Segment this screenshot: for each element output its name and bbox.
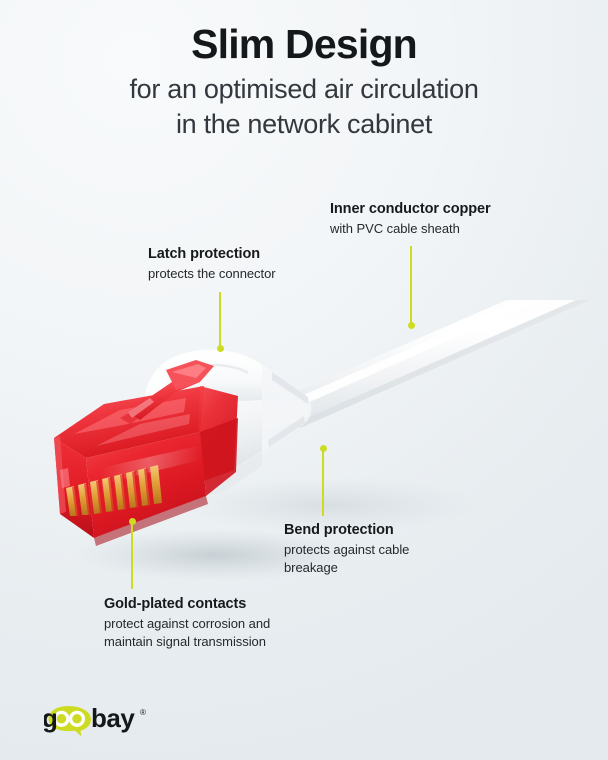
callout-gold-plated-contacts: Gold-plated contacts protect against cor… [104,595,270,651]
callout-sub-line: protect against corrosion and [104,615,270,633]
callout-subtitle: protects the connector [148,265,276,283]
infographic-poster: Slim Design for an optimised air circula… [0,0,608,760]
callout-bend-protection: Bend protection protects against cable b… [284,521,409,577]
logo-text-before: g [44,703,58,733]
callout-inner-conductor-copper: Inner conductor copper with PVC cable sh… [330,200,491,238]
callout-title: Bend protection [284,521,409,541]
leader-line-inner-conductor [410,246,412,326]
subtitle-line-1: for an optimised air circulation [0,72,608,107]
callout-sub-line: maintain signal transmission [104,633,270,651]
leader-line-gold-plated-contacts [131,521,133,589]
page-title: Slim Design [0,22,608,66]
goobay-logo: g bay ® [44,703,156,737]
subtitle-line-2: in the network cabinet [0,107,608,142]
page-subtitle: for an optimised air circulation in the … [0,72,608,141]
callout-subtitle: protects against cable breakage [284,541,409,578]
callout-sub-line: protects against cable [284,541,409,559]
callout-sub-line: protects the connector [148,265,276,283]
callout-title: Inner conductor copper [330,200,491,220]
callout-title: Gold-plated contacts [104,595,270,615]
leader-line-latch-protection [219,292,221,349]
header: Slim Design for an optimised air circula… [0,22,608,141]
leader-line-bend-protection [322,448,324,516]
callout-title: Latch protection [148,245,276,265]
callout-subtitle: protect against corrosion and maintain s… [104,615,270,652]
callout-sub-line: with PVC cable sheath [330,220,491,238]
logo-trademark: ® [140,708,146,717]
callout-sub-line: breakage [284,559,409,577]
callout-subtitle: with PVC cable sheath [330,220,491,238]
callout-latch-protection: Latch protection protects the connector [148,245,276,283]
cable [286,300,608,428]
logo-text-after: bay [91,703,135,733]
